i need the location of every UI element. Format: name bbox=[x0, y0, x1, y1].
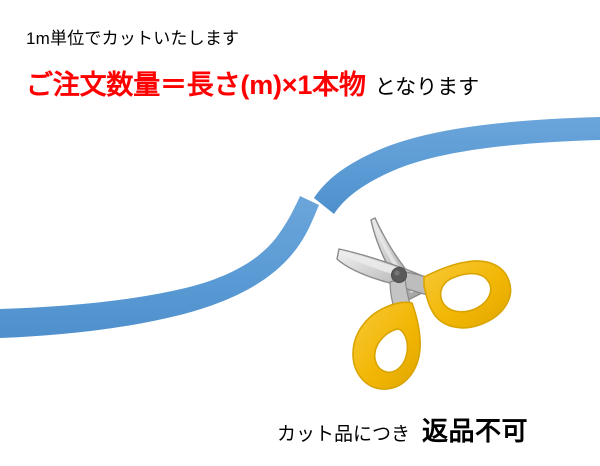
left-ribbon-segment bbox=[0, 196, 319, 338]
no-return-notice-strong: 返品不可 bbox=[422, 416, 528, 446]
cut-service-notice-graphic: 1m単位でカットいたします ご注文数量＝長さ(m)×1本物となります カット品に… bbox=[0, 0, 600, 466]
order-quantity-formula-emphasis: ご注文数量＝長さ(m)×1本物 bbox=[26, 70, 366, 100]
no-return-notice-lead: カット品につき bbox=[277, 424, 410, 445]
cut-unit-note: 1m単位でカットいたします bbox=[26, 30, 239, 47]
order-quantity-formula-tail: となります bbox=[375, 76, 479, 99]
right-ribbon-segment bbox=[314, 117, 600, 214]
no-return-notice: カット品につき返品不可 bbox=[277, 418, 528, 444]
order-quantity-formula: ご注文数量＝長さ(m)×1本物となります bbox=[26, 72, 479, 99]
